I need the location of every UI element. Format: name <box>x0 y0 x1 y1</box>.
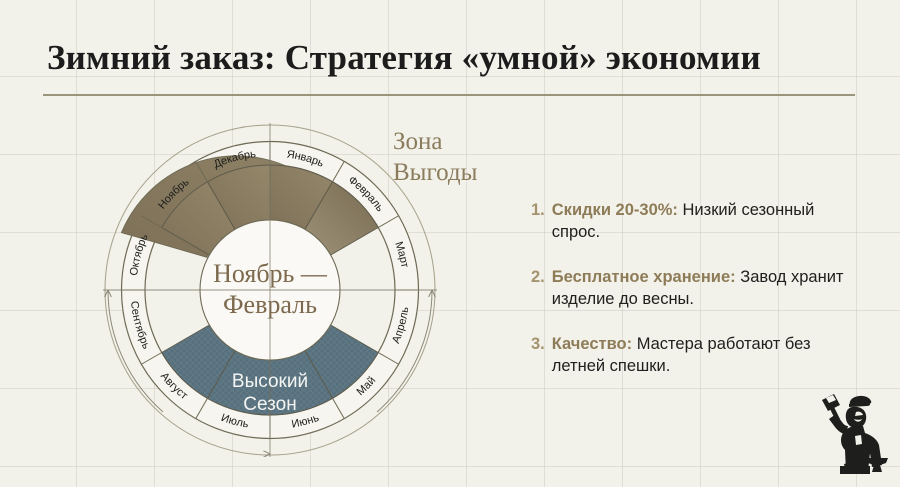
seasonality-wheel: ЯнварьФевральМартАпрельМайИюньИюльАвгуст… <box>103 123 437 457</box>
list-item: 2. Бесплатное хранение: Завод хранит изд… <box>531 267 861 311</box>
page-title: Зимний заказ: Стратегия «умной» экономии <box>47 38 857 78</box>
list-item-text: Скидки 20-30%: Низкий сезонный спрос. <box>552 200 861 244</box>
list-item-strong: Скидки 20-30%: <box>552 201 678 219</box>
benefit-zone-line-2: Выгоды <box>393 158 477 189</box>
list-item-number: 2. <box>531 267 545 311</box>
list-item-text: Качество: Мастера работают без летней сп… <box>552 334 861 378</box>
list-item-strong: Качество: <box>552 335 632 353</box>
list-item-strong: Бесплатное хранение: <box>552 268 736 286</box>
wheel-svg: ЯнварьФевральМартАпрельМайИюньИюльАвгуст… <box>103 123 437 457</box>
list-item-number: 1. <box>531 200 545 244</box>
list-item: 3. Качество: Мастера работают без летней… <box>531 334 861 378</box>
blacksmith-svg <box>806 386 892 474</box>
blacksmith-icon <box>806 386 892 474</box>
list-item-number: 3. <box>531 334 545 378</box>
title-divider <box>43 94 855 96</box>
benefit-zone-label: Зона Выгоды <box>393 127 477 188</box>
benefits-list: 1. Скидки 20-30%: Низкий сезонный спрос.… <box>531 200 861 401</box>
list-item: 1. Скидки 20-30%: Низкий сезонный спрос. <box>531 200 861 244</box>
benefit-zone-line-1: Зона <box>393 127 477 158</box>
slide-canvas: Зимний заказ: Стратегия «умной» экономии <box>0 0 900 487</box>
list-item-text: Бесплатное хранение: Завод хранит издели… <box>552 267 861 311</box>
